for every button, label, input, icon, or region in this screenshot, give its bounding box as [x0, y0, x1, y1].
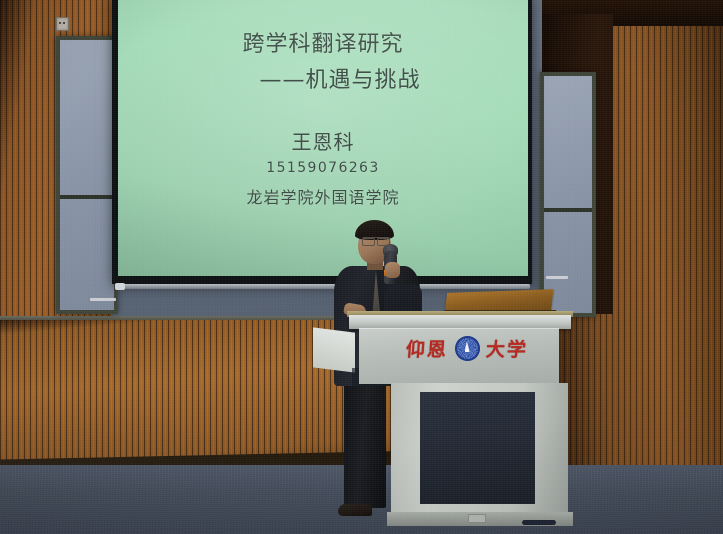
- logo-text-right: 大学: [485, 335, 529, 362]
- logo-text-left: 仰恩: [406, 335, 450, 362]
- whiteboard-right[interactable]: [540, 72, 596, 317]
- whiteboard-right-tray: [546, 276, 568, 279]
- whiteboard-right-divider: [544, 208, 592, 212]
- lecture-hall-photo: 跨学科翻译研究 ——机遇与挑战 王恩科 15159076263 龙岩学院外国语学…: [0, 0, 723, 534]
- podium-latch[interactable]: [468, 514, 486, 523]
- whiteboard-left-tray: [90, 298, 116, 301]
- slide-phone-number: 15159076263: [118, 160, 528, 176]
- screen-bar-end-cap: [115, 283, 125, 290]
- whiteboard-left-divider: [60, 195, 114, 199]
- podium-desktop[interactable]: [349, 315, 571, 329]
- wall-outlet-icon[interactable]: [56, 17, 69, 31]
- whiteboard-left[interactable]: [56, 36, 118, 314]
- podium-equipment-bay[interactable]: [420, 392, 535, 504]
- podium-cable: [522, 520, 556, 525]
- slide-affiliation: 龙岩学院外国语学院: [118, 184, 528, 208]
- presenter-hand-holding-mic: [385, 262, 400, 278]
- university-logo: 仰恩 大学: [382, 330, 552, 366]
- presenter-shoe: [338, 504, 372, 516]
- slide-author: 王恩科: [118, 126, 528, 155]
- university-emblem-icon: [455, 336, 480, 361]
- slide-title-line-1: 跨学科翻译研究: [118, 26, 528, 58]
- podium-side-shelf: [313, 327, 355, 372]
- presenter-legs: [344, 378, 386, 508]
- slide-title-line-2: ——机遇与挑战: [118, 62, 528, 94]
